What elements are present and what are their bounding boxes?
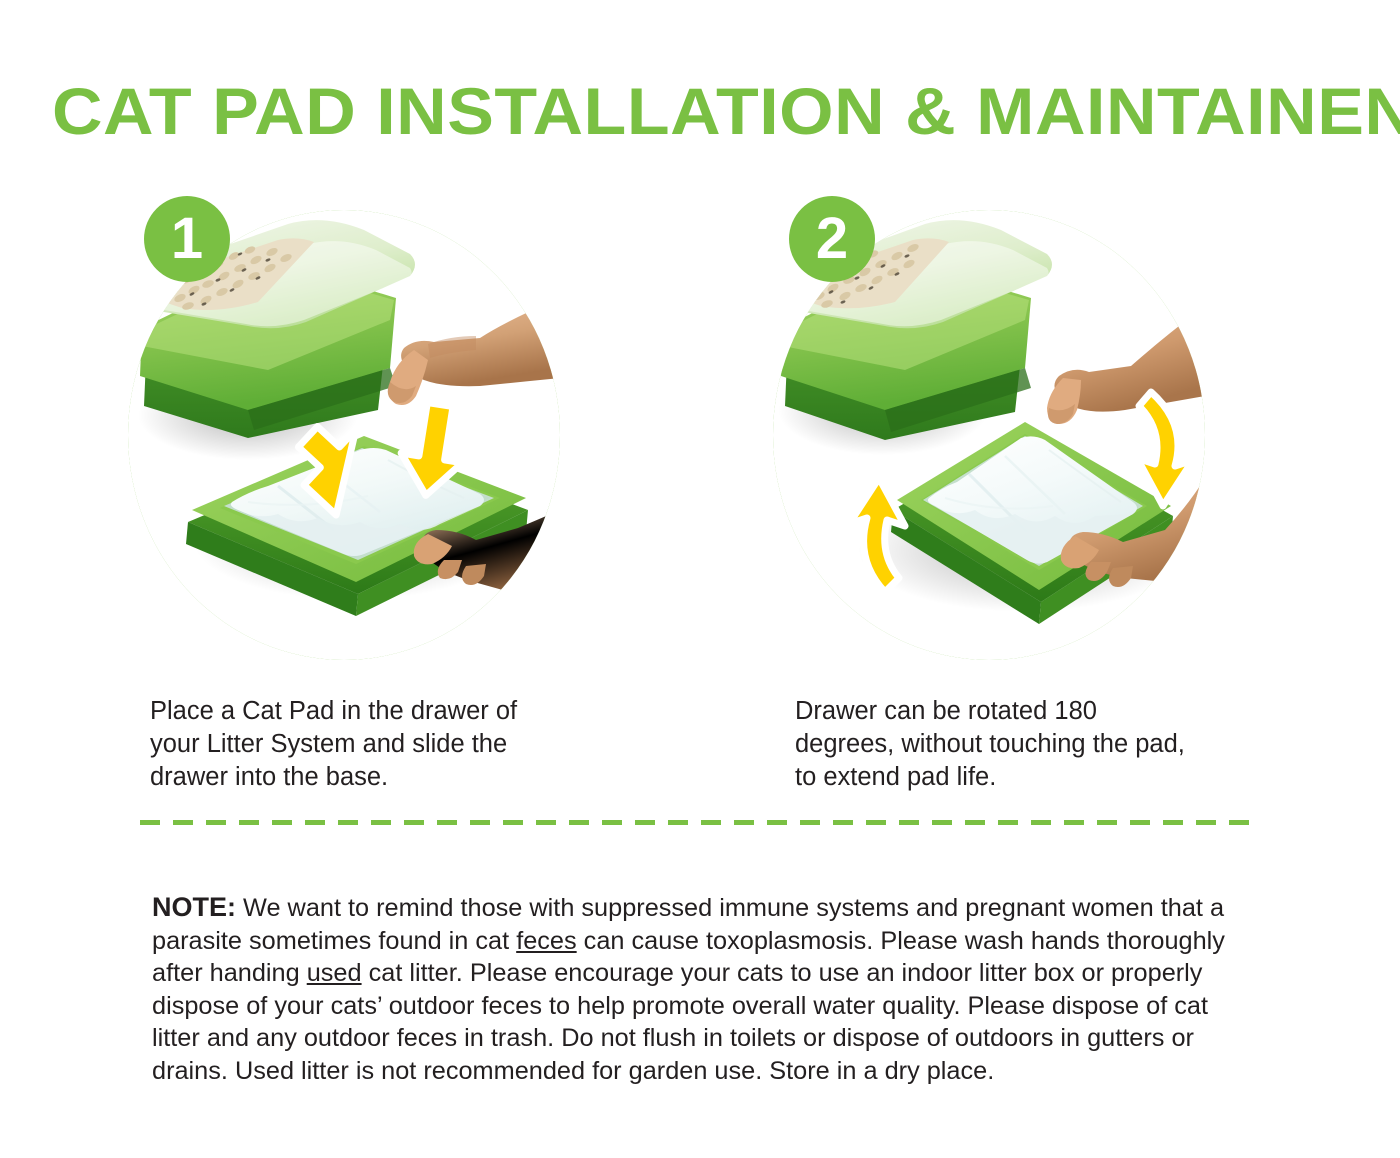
step-number-badge-1: 1 [144, 196, 230, 282]
step-2-caption: Drawer can be rotated 180 degrees, witho… [795, 695, 1195, 794]
note-underline-feces: feces [516, 927, 576, 955]
note-label: NOTE: [152, 892, 236, 922]
step-panel-2: 2 [757, 196, 1227, 676]
note-paragraph: NOTE: We want to remind those with suppr… [152, 891, 1257, 1087]
step-panel-1: 1 [112, 196, 582, 676]
step-1-caption: Place a Cat Pad in the drawer of your Li… [150, 695, 550, 794]
step-number-badge-2: 2 [789, 196, 875, 282]
note-underline-used: used [307, 959, 362, 987]
page-title: CAT PAD INSTALLATION & MAINTAINENCE [52, 76, 1400, 146]
dashed-divider [140, 820, 1262, 825]
